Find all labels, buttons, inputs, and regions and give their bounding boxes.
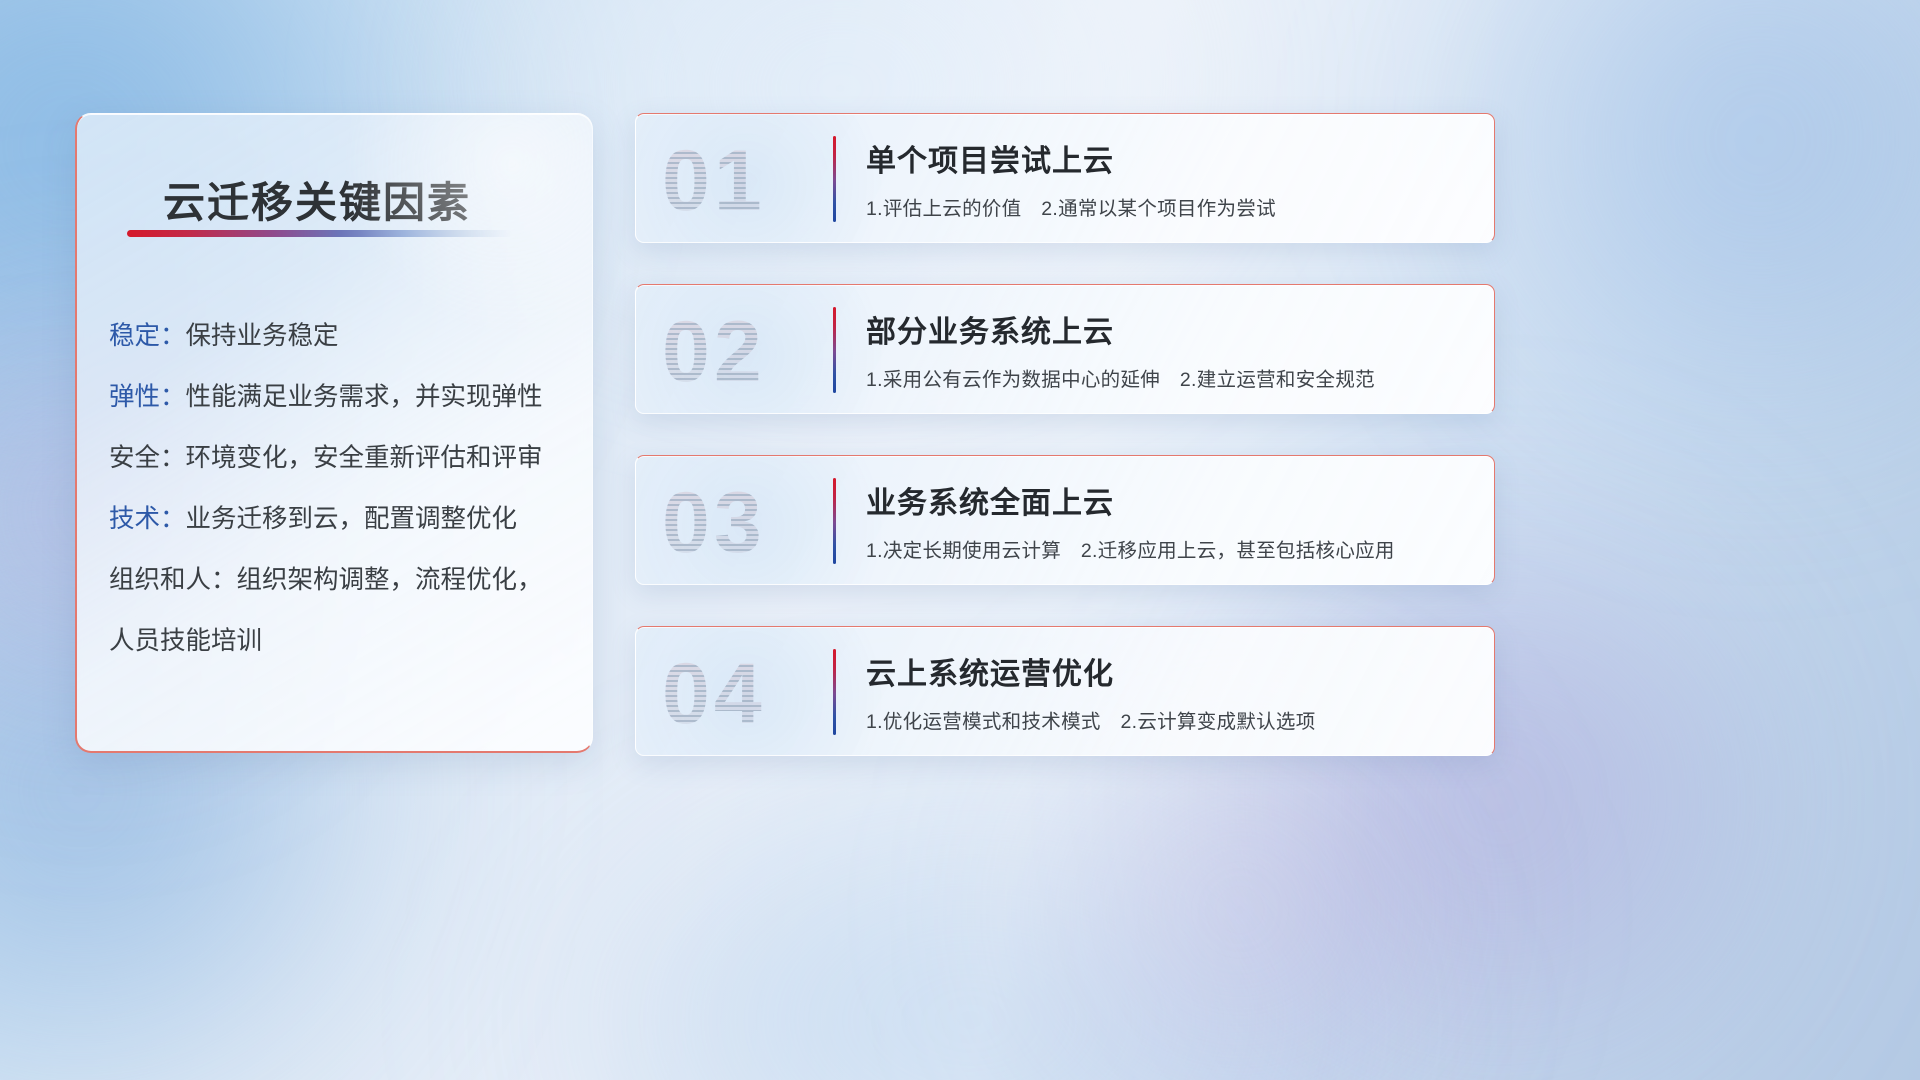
step-divider-bar <box>833 649 836 735</box>
factor-list: 稳定：保持业务稳定弹性：性能满足业务需求，并实现弹性安全：环境变化，安全重新评估… <box>109 306 579 672</box>
factor-text: 保持业务稳定 <box>186 324 339 350</box>
factor-text: 组织架构调整，流程优化， <box>237 568 543 594</box>
step-divider-bar <box>833 136 836 222</box>
step-divider-bar <box>833 478 836 564</box>
step-card-02[interactable]: 02部分业务系统上云1.采用公有云作为数据中心的延伸 2.建立运营和安全规范 <box>635 284 1495 414</box>
step-card-list: 01单个项目尝试上云1.评估上云的价值 2.通常以某个项目作为尝试02部分业务系… <box>635 113 1495 797</box>
factor-text: 性能满足业务需求，并实现弹性 <box>186 385 543 411</box>
factor-label: 技术： <box>109 507 186 533</box>
step-subtitle: 1.采用公有云作为数据中心的延伸 2.建立运营和安全规范 <box>866 363 1375 392</box>
step-title: 单个项目尝试上云 <box>866 136 1114 180</box>
panel-title: 云迁移关键因素 <box>163 169 471 230</box>
factor-line: 技术：业务迁移到云，配置调整优化 <box>109 489 579 550</box>
factor-label: 稳定： <box>109 324 186 350</box>
step-card-04[interactable]: 04云上系统运营优化1.优化运营模式和技术模式 2.云计算变成默认选项 <box>635 626 1495 756</box>
step-title: 业务系统全面上云 <box>866 478 1114 522</box>
factor-label: 组织和人： <box>109 568 237 594</box>
step-number-watermark: 01 <box>662 122 766 240</box>
factor-line: 安全：环境变化，安全重新评估和评审 <box>109 428 579 489</box>
factor-label: 安全： <box>109 446 186 472</box>
step-subtitle: 1.评估上云的价值 2.通常以某个项目作为尝试 <box>866 192 1276 221</box>
step-card-03[interactable]: 03业务系统全面上云1.决定长期使用云计算 2.迁移应用上云，甚至包括核心应用 <box>635 455 1495 585</box>
step-number-watermark: 03 <box>662 464 766 582</box>
factor-line: 稳定：保持业务稳定 <box>109 306 579 367</box>
step-title: 云上系统运营优化 <box>866 649 1114 693</box>
factor-line: 组织和人：组织架构调整，流程优化， <box>109 550 579 611</box>
panel-title-underline <box>127 230 512 237</box>
step-subtitle: 1.优化运营模式和技术模式 2.云计算变成默认选项 <box>866 705 1316 734</box>
step-number-watermark: 02 <box>662 293 766 411</box>
factor-line: 弹性：性能满足业务需求，并实现弹性 <box>109 367 579 428</box>
factor-text: 环境变化，安全重新评估和评审 <box>186 446 543 472</box>
factor-text: 业务迁移到云，配置调整优化 <box>186 507 518 533</box>
key-factors-panel: 云迁移关键因素 稳定：保持业务稳定弹性：性能满足业务需求，并实现弹性安全：环境变… <box>75 113 593 753</box>
step-number-watermark: 04 <box>662 635 766 753</box>
step-subtitle: 1.决定长期使用云计算 2.迁移应用上云，甚至包括核心应用 <box>866 534 1395 563</box>
step-title: 部分业务系统上云 <box>866 307 1114 351</box>
factor-label: 弹性： <box>109 385 186 411</box>
factor-text: 人员技能培训 <box>109 629 262 655</box>
factor-line: 人员技能培训 <box>109 611 579 672</box>
step-divider-bar <box>833 307 836 393</box>
step-card-01[interactable]: 01单个项目尝试上云1.评估上云的价值 2.通常以某个项目作为尝试 <box>635 113 1495 243</box>
slide-stage: 云迁移关键因素 稳定：保持业务稳定弹性：性能满足业务需求，并实现弹性安全：环境变… <box>0 0 1920 1080</box>
